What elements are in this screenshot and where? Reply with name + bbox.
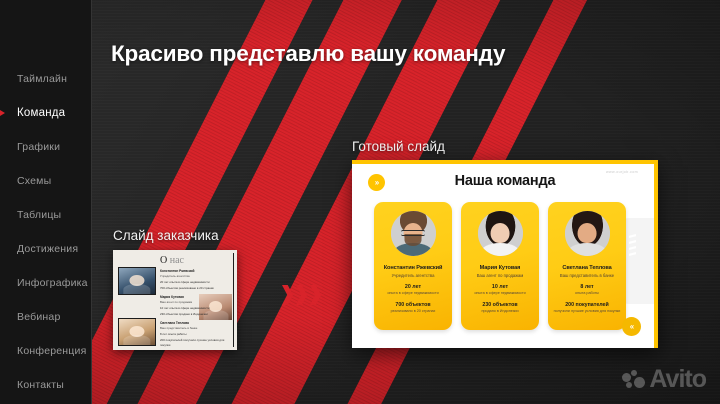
stat-value: 20 лет <box>374 284 452 290</box>
team-card-list: Константин РжевскийУчредитель агентства2… <box>374 202 626 330</box>
sidebar-item-label: Контакты <box>17 379 64 391</box>
sidebar-item-9[interactable]: Контакты <box>0 368 91 402</box>
sidebar-item-0[interactable]: Таймлайн <box>0 62 91 96</box>
sidebar-item-5[interactable]: Достижения <box>0 232 91 266</box>
team-member-stat: 230 объектовпродано в Индонезии <box>461 302 539 314</box>
ready-slide-preview[interactable]: » Наша команда www.ourjob.com Константин… <box>352 160 658 348</box>
sidebar-item-label: Конференция <box>17 345 86 357</box>
team-card: Константин РжевскийУчредитель агентства2… <box>374 202 452 330</box>
stat-label: получили лучшие условия для покупки <box>548 309 626 314</box>
sidebar: ТаймлайнКомандаГрафикиСхемыТаблицыДостиж… <box>0 0 92 404</box>
slide-canvas: ТаймлайнКомандаГрафикиСхемыТаблицыДостиж… <box>0 0 720 404</box>
client-slide-row: Константин Ржевский Учредитель агентства… <box>160 269 232 291</box>
client-member-role: Ваш агент по продажам <box>160 300 232 305</box>
client-slide-row: Светлана Теплова Ваш представитель в бан… <box>160 321 232 347</box>
sidebar-item-label: Вебинар <box>17 311 60 323</box>
chevron-right-icon <box>296 285 307 305</box>
right-chevron-decoration-icon <box>629 234 636 256</box>
team-member-stat: 700 объектовреализовано в 20 странах <box>374 302 452 314</box>
sidebar-item-label: Графики <box>17 141 60 153</box>
team-member-role: Ваш представитель в банке <box>548 273 626 278</box>
team-member-stat: 8 летопыта работы <box>548 284 626 296</box>
team-member-name: Константин Ржевский <box>374 265 452 271</box>
stat-label: опыта работы <box>548 291 626 296</box>
client-member-stat: 10 лет опыта в сфере недвижимости <box>160 306 232 311</box>
stat-value: 700 объектов <box>374 302 452 308</box>
team-member-stat: 10 летопыта в сфере недвижимости <box>461 284 539 296</box>
sidebar-item-3[interactable]: Схемы <box>0 164 91 198</box>
chevron-right-icon <box>310 285 321 305</box>
team-member-name: Мария Кутовая <box>461 265 539 271</box>
team-card: Мария КутоваяВаш агент по продажам10 лет… <box>461 202 539 330</box>
avatar <box>478 211 523 256</box>
stat-label: опыта в сфере недвижимости <box>374 291 452 296</box>
client-slide-row: Мария Кутовая Ваш агент по продажам 10 л… <box>160 295 232 317</box>
left-chevron-decoration-icon <box>360 256 367 278</box>
active-pointer-icon <box>0 104 5 122</box>
sidebar-item-4[interactable]: Таблицы <box>0 198 91 232</box>
client-member-stat: 200 покупателей получили лучшие условия … <box>160 338 232 347</box>
avito-logo-icon <box>622 370 644 389</box>
page-title: Красиво представлю вашу команду <box>111 41 505 67</box>
client-slide-title: О нас <box>160 255 184 266</box>
team-card: Светлана ТепловаВаш представитель в банк… <box>548 202 626 330</box>
stat-label: опыта в сфере недвижимости <box>461 291 539 296</box>
sidebar-item-label: Достижения <box>17 243 78 255</box>
stat-value: 200 покупателей <box>548 302 626 308</box>
ready-slide-title: Наша команда <box>352 173 658 189</box>
avatar <box>565 211 610 256</box>
client-slide-edge <box>233 253 235 347</box>
avito-watermark: Avito <box>622 367 706 392</box>
stat-label: продано в Индонезии <box>461 309 539 314</box>
sidebar-item-list: ТаймлайнКомандаГрафикиСхемыТаблицыДостиж… <box>0 62 91 402</box>
sidebar-item-7[interactable]: Вебинар <box>0 300 91 334</box>
team-member-stat: 200 покупателейполучили лучшие условия д… <box>548 302 626 314</box>
client-member-stat: 8 лет опыта работы <box>160 332 232 337</box>
client-member-role: Ваш представитель в банке <box>160 326 232 331</box>
client-member-stat: 700 объектов реализовано в 20 странах <box>160 286 232 291</box>
sidebar-item-label: Таймлайн <box>17 73 67 85</box>
team-member-stat: 20 летопыта в сфере недвижимости <box>374 284 452 296</box>
stat-value: 8 лет <box>548 284 626 290</box>
caption-client-slide: Слайд заказчика <box>113 228 219 243</box>
client-slide-photo <box>118 318 156 346</box>
sidebar-item-label: Схемы <box>17 175 51 187</box>
sidebar-item-label: Инфографика <box>17 277 88 289</box>
stat-value: 230 объектов <box>461 302 539 308</box>
red-chevron-arrow-icon <box>282 285 321 305</box>
chevron-right-icon <box>282 285 293 305</box>
sidebar-item-label: Команда <box>17 107 65 119</box>
stat-label: реализовано в 20 странах <box>374 309 452 314</box>
stat-value: 10 лет <box>461 284 539 290</box>
client-slide-photo <box>118 267 156 295</box>
avatar <box>391 211 436 256</box>
team-member-role: Учредитель агентства <box>374 273 452 278</box>
caption-ready-slide: Готовый слайд <box>352 139 445 154</box>
client-member-role: Учредитель агентства <box>160 274 232 279</box>
slide-top-accent-bar <box>352 160 658 164</box>
team-member-role: Ваш агент по продажам <box>461 273 539 278</box>
sidebar-item-8[interactable]: Конференция <box>0 334 91 368</box>
client-member-stat: 20 лет опыта в сфере недвижимости <box>160 280 232 285</box>
team-member-name: Светлана Теплова <box>548 265 626 271</box>
prev-badge-icon[interactable]: « <box>622 317 641 336</box>
sidebar-item-6[interactable]: Инфографика <box>0 266 91 300</box>
sidebar-item-label: Таблицы <box>17 209 61 221</box>
client-member-stat: 230 объектов продано в Индонезии <box>160 312 232 317</box>
sidebar-item-1[interactable]: Команда <box>0 96 91 130</box>
client-slide-title-black: О <box>160 255 167 266</box>
client-slide-title-grey: нас <box>170 255 184 266</box>
sidebar-item-2[interactable]: Графики <box>0 130 91 164</box>
avito-wordmark: Avito <box>649 367 706 392</box>
client-slide-thumbnail[interactable]: О нас Константин Ржевский Учредитель аге… <box>113 250 237 350</box>
ready-slide-url: www.ourjob.com <box>606 170 638 174</box>
